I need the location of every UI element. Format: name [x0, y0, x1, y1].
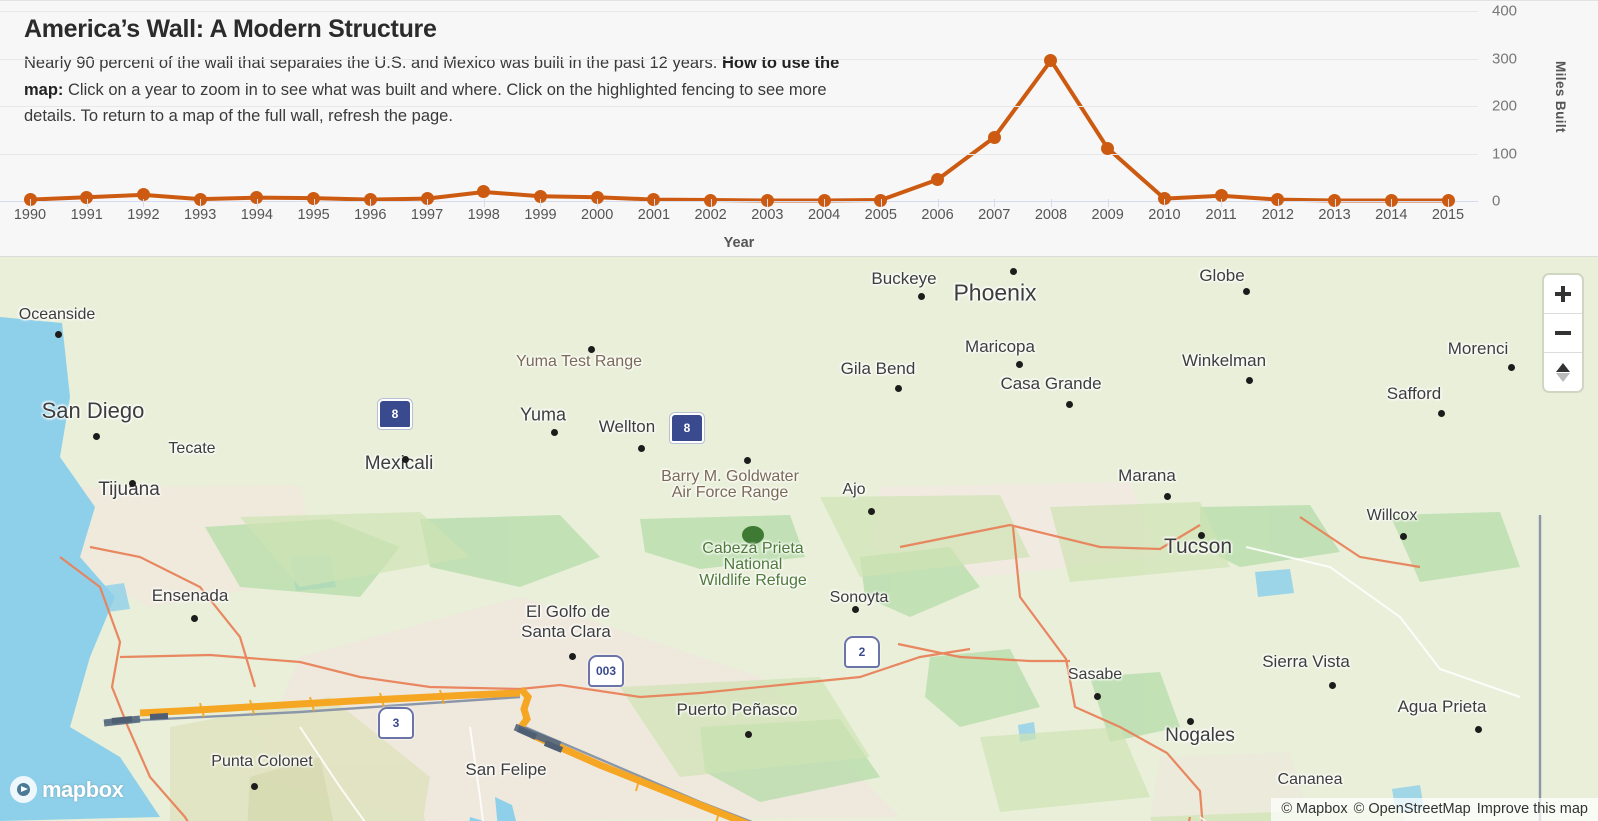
- highway-shield-8: 8: [378, 399, 412, 429]
- map-place-dot: [1187, 718, 1194, 725]
- compass-reset-button[interactable]: [1544, 353, 1582, 391]
- chart-x-tick-mark: [540, 199, 541, 207]
- chart-x-tick-mark: [654, 199, 655, 207]
- chart-data-point[interactable]: [818, 194, 831, 207]
- chart-x-tick-2012[interactable]: 2012: [1262, 207, 1294, 223]
- minus-icon: [1555, 331, 1571, 335]
- attribution-improve-link[interactable]: Improve this map: [1477, 801, 1588, 817]
- chart-data-point[interactable]: [1442, 194, 1455, 207]
- chart-y-tick: 300: [1492, 50, 1517, 67]
- map-place-dot: [1246, 377, 1253, 384]
- chart-gridline: [0, 11, 1478, 12]
- chart-x-tick-2011[interactable]: 2011: [1206, 207, 1237, 223]
- chart-data-point[interactable]: [421, 192, 434, 205]
- chart-x-tick-2015[interactable]: 2015: [1432, 207, 1464, 223]
- chart-x-tick-1996[interactable]: 1996: [354, 207, 386, 223]
- map-place-dot: [569, 653, 576, 660]
- deck-text-part1: Nearly 90 percent of the wall that separ…: [24, 54, 722, 72]
- chart-data-point[interactable]: [988, 131, 1001, 144]
- map-place-dot: [93, 433, 100, 440]
- highway-shield-3: 3: [378, 707, 414, 739]
- chart-x-tick-mark: [484, 199, 485, 207]
- chart-x-axis: 1990199119921993199419951996199719981999…: [0, 207, 1478, 229]
- chart-data-point[interactable]: [761, 194, 774, 207]
- map-place-dot: [551, 429, 558, 436]
- chart-y-tick: 200: [1492, 98, 1517, 115]
- map-place-dot: [129, 480, 136, 487]
- chart-x-tick-1999[interactable]: 1999: [524, 207, 556, 223]
- chart-x-tick-2007[interactable]: 2007: [978, 207, 1010, 223]
- map-place-dot: [1438, 410, 1445, 417]
- compass-icon: [1556, 363, 1570, 382]
- map-place-dot: [918, 293, 925, 300]
- map-place-dot: [868, 508, 875, 515]
- chart-y-tick: 100: [1492, 145, 1517, 162]
- highway-shield-8: 8: [670, 413, 704, 443]
- top-panel: America’s Wall: A Modern Structure Nearl…: [0, 0, 1598, 256]
- chart-data-point[interactable]: [534, 190, 547, 203]
- chart-x-tick-mark: [938, 199, 939, 207]
- chart-data-point[interactable]: [477, 185, 490, 198]
- chart-x-tick-2004[interactable]: 2004: [808, 207, 840, 223]
- chart-x-tick-2000[interactable]: 2000: [581, 207, 613, 223]
- chart-data-point[interactable]: [931, 173, 944, 186]
- map-place-dot: [1198, 532, 1205, 539]
- chart-x-tick-2006[interactable]: 2006: [921, 207, 953, 223]
- chart-x-tick-2002[interactable]: 2002: [694, 207, 726, 223]
- map-place-dot: [1329, 682, 1336, 689]
- chart-data-point[interactable]: [647, 193, 660, 206]
- chart-x-tick-2010[interactable]: 2010: [1148, 207, 1180, 223]
- map-place-dot: [402, 456, 409, 463]
- chart-data-point[interactable]: [364, 193, 377, 206]
- map-attribution[interactable]: © Mapbox © OpenStreetMap Improve this ma…: [1271, 798, 1598, 821]
- chart-x-tick-mark: [767, 199, 768, 207]
- chart-x-tick-mark: [30, 199, 31, 207]
- chart-x-tick-mark: [87, 199, 88, 207]
- chart-x-tick-mark: [994, 199, 995, 207]
- map-place-dot: [55, 331, 62, 338]
- chart-x-tick-mark: [314, 199, 315, 207]
- chart-data-point[interactable]: [1328, 194, 1341, 207]
- chart-x-tick-2009[interactable]: 2009: [1092, 207, 1124, 223]
- mapbox-wordmark: mapbox: [42, 777, 123, 803]
- chart-data-point[interactable]: [137, 188, 150, 201]
- attribution-osm[interactable]: © OpenStreetMap: [1354, 801, 1471, 817]
- chart-y-tick: 0: [1492, 193, 1500, 210]
- highway-shield-003: 003: [588, 655, 624, 687]
- mapbox-logo[interactable]: mapbox: [10, 776, 123, 803]
- chart-x-tick-mark: [881, 199, 882, 207]
- plus-icon: [1555, 286, 1571, 302]
- chart-x-tick-mark: [427, 199, 428, 207]
- page-title: America’s Wall: A Modern Structure: [24, 15, 864, 44]
- chart-y-axis-label: Miles Built: [1553, 61, 1568, 133]
- map-place-dot: [1475, 726, 1482, 733]
- map-place-dot: [191, 615, 198, 622]
- map-place-dot: [1243, 288, 1250, 295]
- chart-x-tick-mark: [824, 199, 825, 207]
- chart-gridline: [0, 201, 1478, 202]
- chart-x-tick-mark: [1051, 199, 1052, 207]
- map-place-dot: [852, 606, 859, 613]
- chart-x-tick-mark: [1108, 199, 1109, 207]
- chart-x-tick-mark: [711, 199, 712, 207]
- chart-x-axis-label: Year: [0, 235, 1478, 251]
- map-place-dot: [1066, 401, 1073, 408]
- chart-x-tick-1995[interactable]: 1995: [297, 207, 329, 223]
- chart-x-tick-mark: [1221, 199, 1222, 207]
- chart-data-point[interactable]: [1271, 193, 1284, 206]
- map-place-dot: [1508, 364, 1515, 371]
- chart-data-point[interactable]: [1101, 142, 1114, 155]
- chart-x-tick-2014[interactable]: 2014: [1375, 207, 1407, 223]
- map-controls[interactable]: [1544, 275, 1582, 391]
- map-place-dot: [1016, 361, 1023, 368]
- chart-x-tick-1997[interactable]: 1997: [411, 207, 443, 223]
- zoom-in-button[interactable]: [1544, 275, 1582, 314]
- map-place-dot: [1400, 533, 1407, 540]
- chart-x-tick-2003[interactable]: 2003: [751, 207, 783, 223]
- chart-x-tick-1998[interactable]: 1998: [468, 207, 500, 223]
- chart-data-point[interactable]: [194, 193, 207, 206]
- chart-x-tick-1991[interactable]: 1991: [71, 207, 103, 223]
- chart-data-point[interactable]: [250, 191, 263, 204]
- chart-data-point[interactable]: [1158, 192, 1171, 205]
- chart-x-tick-1992[interactable]: 1992: [127, 207, 159, 223]
- chart-data-point[interactable]: [1215, 189, 1228, 202]
- chart-x-tick-2005[interactable]: 2005: [865, 207, 897, 223]
- chart-data-point[interactable]: [704, 194, 717, 207]
- chart-x-tick-mark: [1391, 199, 1392, 207]
- chart-x-tick-1990[interactable]: 1990: [14, 207, 46, 223]
- map-place-dot: [251, 783, 258, 790]
- chart-data-point[interactable]: [307, 192, 320, 205]
- chart-x-tick-mark: [200, 199, 201, 207]
- chart-x-tick-mark: [1164, 199, 1165, 207]
- chart-x-tick-mark: [1448, 199, 1449, 207]
- mapbox-mark-icon: [10, 776, 37, 803]
- visualization-page: America’s Wall: A Modern Structure Nearl…: [0, 0, 1598, 820]
- deck-text-part2: Click on a year to zoom in to see what w…: [24, 81, 827, 126]
- map-place-dot: [1010, 268, 1017, 275]
- page-deck: Nearly 90 percent of the wall that separ…: [24, 50, 864, 130]
- chart-x-tick-mark: [1278, 199, 1279, 207]
- map-place-dot: [1164, 493, 1171, 500]
- chart-x-tick-mark: [1335, 199, 1336, 207]
- chart-data-point[interactable]: [591, 191, 604, 204]
- map-place-dot: [638, 445, 645, 452]
- attribution-mapbox[interactable]: © Mapbox: [1281, 801, 1347, 817]
- chart-x-tick-2013[interactable]: 2013: [1318, 207, 1350, 223]
- chart-data-point[interactable]: [1044, 54, 1057, 67]
- chart-data-point[interactable]: [24, 193, 37, 206]
- map-place-dot: [744, 457, 751, 464]
- map-base-layer: [0, 257, 1598, 821]
- chart-x-tick-mark: [257, 199, 258, 207]
- zoom-out-button[interactable]: [1544, 314, 1582, 353]
- map-place-dot: [1094, 693, 1101, 700]
- chart-x-tick-mark: [370, 199, 371, 207]
- highway-shield-2: 2: [844, 636, 880, 668]
- map-place-dot: [895, 385, 902, 392]
- chart-x-tick-mark: [143, 199, 144, 207]
- border-wall-map[interactable]: OceansideSan DiegoTijuanaTecateEnsenadaP…: [0, 256, 1598, 821]
- chart-x-tick-2001[interactable]: 2001: [638, 207, 670, 223]
- chart-data-point[interactable]: [1385, 194, 1398, 207]
- chart-x-tick-1994[interactable]: 1994: [241, 207, 273, 223]
- chart-data-point[interactable]: [80, 191, 93, 204]
- chart-x-tick-mark: [597, 199, 598, 207]
- chart-data-point[interactable]: [874, 194, 887, 207]
- chart-x-tick-1993[interactable]: 1993: [184, 207, 216, 223]
- chart-y-tick: 400: [1492, 3, 1517, 20]
- map-place-dot: [745, 731, 752, 738]
- map-place-dot: [588, 346, 595, 353]
- chart-gridline: [0, 154, 1478, 155]
- chart-x-tick-2008[interactable]: 2008: [1035, 207, 1067, 223]
- headline-block: America’s Wall: A Modern Structure Nearl…: [24, 15, 864, 130]
